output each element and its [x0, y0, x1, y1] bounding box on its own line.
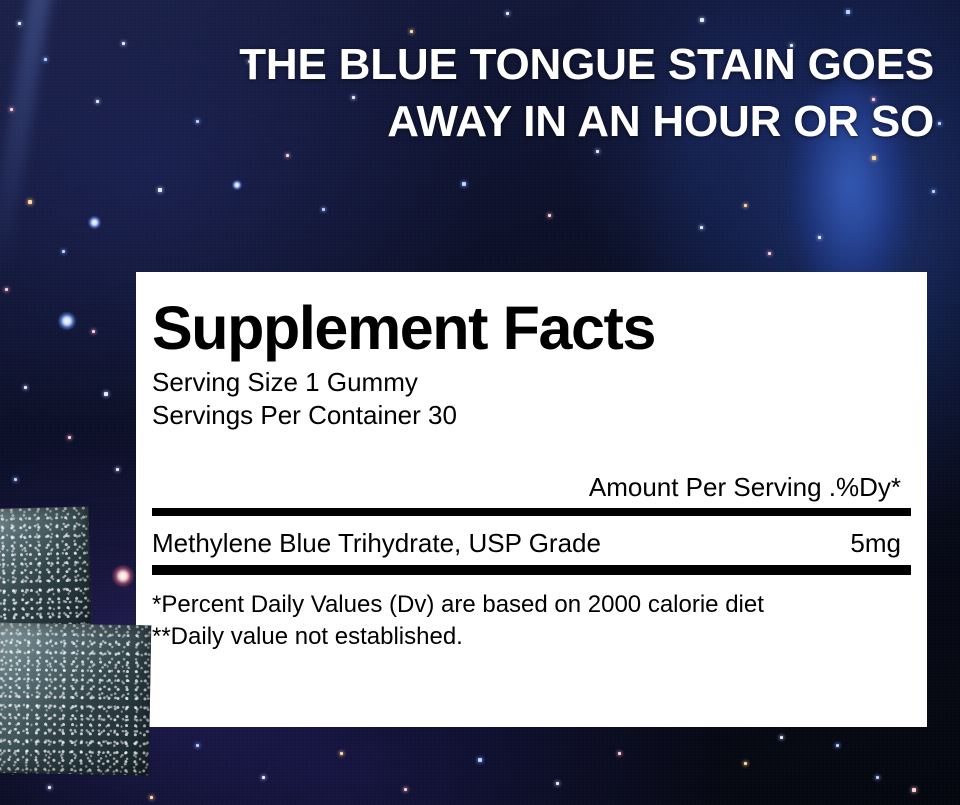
bright-star [58, 312, 76, 330]
gummy-cube [0, 506, 92, 639]
gummy-cube [0, 623, 151, 776]
table-rule-top [152, 508, 911, 516]
star [872, 156, 876, 160]
star [286, 154, 289, 157]
star [556, 782, 559, 785]
footnote-daily-values: *Percent Daily Values (Dv) are based on … [152, 589, 911, 621]
star [506, 12, 509, 15]
star [768, 252, 771, 255]
star [700, 18, 704, 22]
star [618, 752, 621, 755]
star [92, 330, 95, 333]
star [68, 436, 71, 439]
bright-star [88, 216, 101, 229]
ingredient-name: Methylene Blue Trihydrate, USP Grade [152, 528, 601, 559]
star [836, 744, 839, 747]
star [478, 758, 482, 762]
star [48, 786, 51, 789]
amount-per-serving-header: Amount Per Serving .%Dy* [152, 472, 911, 503]
star [932, 190, 935, 193]
star [780, 736, 783, 739]
star [150, 796, 153, 799]
star [410, 30, 413, 33]
star [262, 776, 265, 779]
star [818, 236, 821, 239]
star [158, 188, 162, 192]
star [14, 478, 17, 481]
star [196, 744, 199, 747]
ingredient-amount: 5mg [850, 528, 901, 559]
supplement-facts-title: Supplement Facts [152, 294, 911, 362]
star [700, 226, 703, 229]
star [596, 150, 599, 153]
star [322, 208, 325, 211]
star [104, 392, 108, 396]
bright-star [112, 565, 134, 587]
star [744, 204, 747, 207]
star [18, 22, 21, 25]
star [340, 752, 343, 755]
star [404, 788, 407, 791]
star [28, 200, 32, 204]
servings-per-container: Servings Per Container 30 [152, 399, 911, 432]
star [744, 762, 747, 765]
star [5, 288, 8, 291]
table-row: Methylene Blue Trihydrate, USP Grade 5mg [152, 528, 911, 559]
serving-info: Serving Size 1 Gummy Servings Per Contai… [152, 366, 911, 432]
bright-star [232, 180, 242, 190]
star [24, 386, 27, 389]
star [62, 250, 65, 253]
footnote-not-established: **Daily value not established. [152, 621, 911, 653]
supplement-facts-panel: Supplement Facts Serving Size 1 Gummy Se… [136, 272, 927, 727]
headline-line-1: THE BLUE TONGUE STAIN GOES [0, 36, 934, 93]
star [116, 468, 119, 471]
serving-size: Serving Size 1 Gummy [152, 366, 911, 399]
star [548, 214, 551, 217]
table-rule-bottom [152, 565, 911, 575]
star [846, 10, 850, 14]
headline: THE BLUE TONGUE STAIN GOES AWAY IN AN HO… [0, 36, 942, 150]
star [876, 776, 879, 779]
product-label-image: THE BLUE TONGUE STAIN GOES AWAY IN AN HO… [0, 0, 960, 805]
star [912, 788, 916, 792]
footnotes: *Percent Daily Values (Dv) are based on … [152, 589, 911, 653]
star [462, 182, 466, 186]
headline-line-2: AWAY IN AN HOUR OR SO [0, 93, 934, 150]
